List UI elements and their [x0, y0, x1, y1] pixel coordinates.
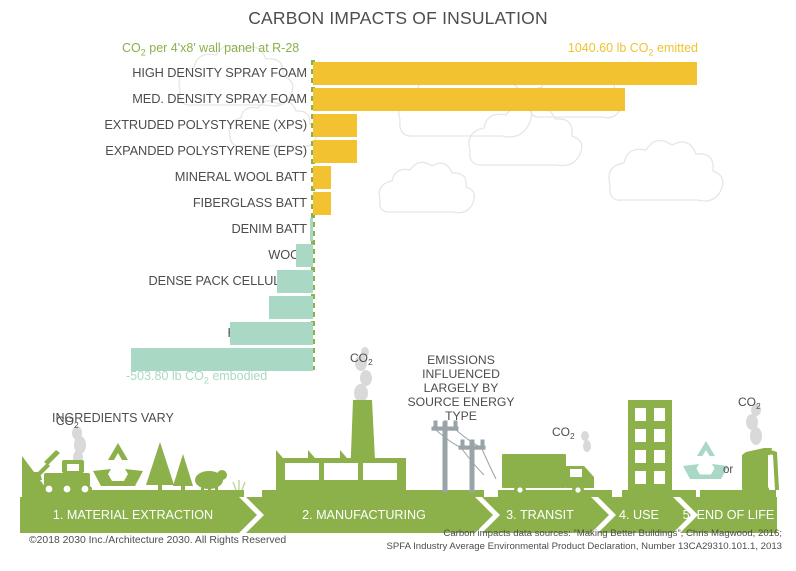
chart-subtitle-left: CO2 per 4'x8' wall panel at R-28: [122, 41, 299, 58]
bar-emitted: [313, 62, 697, 85]
or-label: or: [723, 464, 733, 476]
stage-5-illustration: CO 2 or: [683, 395, 779, 498]
bar-label: EXPANDED POLYSTYRENE (EPS): [105, 143, 307, 158]
co2-label-factory: CO: [350, 351, 368, 365]
data-sources-text: Carbon impacts data sources: “Making Bet…: [386, 528, 782, 553]
lifecycle-illustration: CO 2 CO 2: [0, 330, 796, 520]
bar-row: FIBERGLASS BATT: [0, 192, 796, 216]
bar-emitted: [313, 140, 357, 163]
co2-label-extraction: CO: [56, 414, 74, 428]
bar-row: MED. DENSITY SPRAY FOAM: [0, 88, 796, 112]
bar-label: DENIM BATT: [231, 221, 307, 236]
bar-embodied: [277, 270, 313, 293]
recycle-icon: [93, 443, 143, 486]
stage-2-illustration: CO 2: [262, 347, 496, 498]
stage-3-illustration: CO 2: [498, 425, 612, 498]
bar-row: CORK: [0, 296, 796, 320]
bar-embodied: [269, 296, 313, 319]
recycle-icon-teal: [683, 441, 728, 479]
stage-1-illustration: CO 2: [22, 414, 245, 498]
bar-label: HIGH DENSITY SPRAY FOAM: [132, 65, 307, 80]
bar-row: HIGH DENSITY SPRAY FOAM: [0, 62, 796, 86]
data-sources-line-2: SPFA Industry Average Environmental Prod…: [386, 541, 782, 554]
bar-label: MINERAL WOOL BATT: [175, 169, 307, 184]
co2-subscript-extraction: 2: [74, 420, 79, 430]
bar-row: MINERAL WOOL BATT: [0, 166, 796, 190]
building-icon: [628, 400, 672, 492]
bar-row: DENIM BATT: [0, 218, 796, 242]
bar-emitted: [313, 192, 331, 215]
bar-embodied: [310, 218, 313, 241]
bar-emitted: [313, 114, 357, 137]
grass-icon: [233, 480, 245, 490]
bar-emitted: [313, 166, 331, 189]
co2-smoke-truck: [581, 431, 591, 452]
bar-row: EXTRUDED POLYSTYRENE (XPS): [0, 114, 796, 138]
factory-window-1: [285, 463, 319, 480]
subtitle-left-rest: per 4'x8' wall panel at R-28: [146, 41, 299, 55]
sheep-icon: [195, 470, 227, 493]
subtitle-left-prefix: CO: [122, 41, 141, 55]
tree-icons: [146, 442, 193, 492]
bar-label: EXTRUDED POLYSTYRENE (XPS): [104, 117, 307, 132]
data-sources-line-1: Carbon impacts data sources: “Making Bet…: [386, 528, 782, 541]
co2-label-transit: CO: [552, 425, 570, 439]
subtitle-right-prefix: 1040.60 lb CO: [568, 41, 649, 55]
factory-window-2: [324, 463, 358, 480]
page-title: CARBON IMPACTS OF INSULATION: [0, 8, 796, 29]
truck-icon: [502, 454, 594, 496]
bar-row: DENSE PACK CELLULOSE: [0, 270, 796, 294]
bar-label: FIBERGLASS BATT: [193, 195, 307, 210]
factory-window-3: [363, 463, 397, 480]
bar-embodied: [296, 244, 313, 267]
bar-emitted: [313, 88, 625, 111]
co2-label-endoflife: CO: [738, 395, 756, 409]
copyright-text: ©2018 2030 Inc./Architecture 2030. All R…: [29, 535, 286, 546]
power-line-icon: [432, 421, 496, 492]
bar-row: WOOL: [0, 244, 796, 268]
chart-subtitle-right: 1040.60 lb CO2 emitted: [568, 41, 698, 58]
co2-subscript-transit: 2: [570, 431, 575, 441]
subtitle-right-rest: emitted: [654, 41, 698, 55]
co2-subscript-factory: 2: [368, 357, 373, 367]
bar-label: MED. DENSITY SPRAY FOAM: [132, 91, 307, 106]
bar-chart: HIGH DENSITY SPRAY FOAMMED. DENSITY SPRA…: [0, 60, 796, 372]
stage-label-1: 1. MATERIAL EXTRACTION: [20, 497, 246, 533]
bar-row: EXPANDED POLYSTYRENE (EPS): [0, 140, 796, 164]
trash-bin-icon: [742, 448, 779, 493]
co2-subscript-endoflife: 2: [756, 401, 761, 411]
infographic-root: CARBON IMPACTS OF INSULATION CO2 per 4'x…: [0, 0, 796, 571]
stage-4-illustration: [622, 400, 696, 498]
